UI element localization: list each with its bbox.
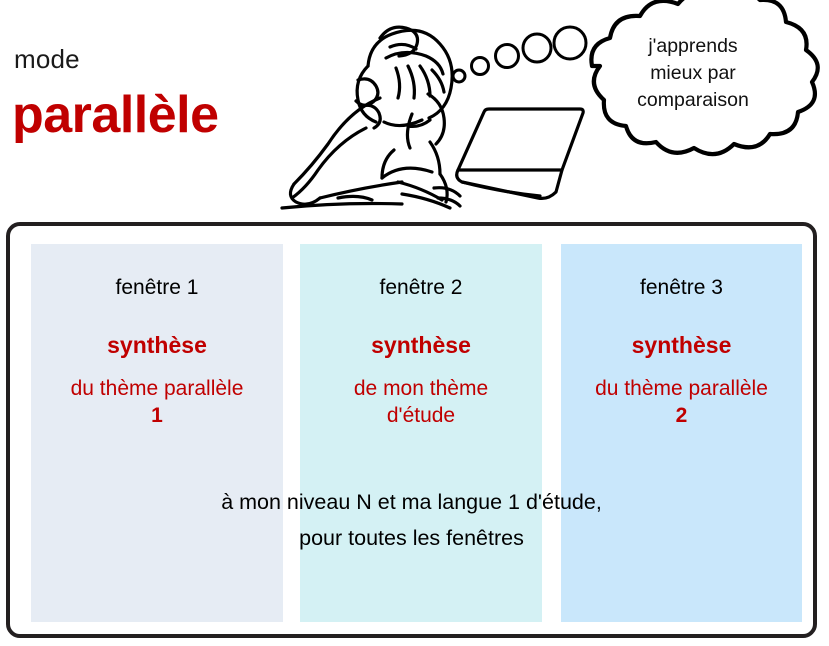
window-column-2-emphasis: d'étude xyxy=(300,402,542,429)
window-column-1-emphasis: 1 xyxy=(31,402,283,429)
window-column-1-keyword: synthèse xyxy=(31,331,283,359)
window-column-2-title: fenêtre 2 xyxy=(300,274,542,301)
thought-line-3: comparaison xyxy=(600,87,786,114)
windows-columns: fenêtre 1 synthèse du thème parallèle 1 … xyxy=(10,226,813,634)
thought-bubble-text: j'apprends mieux par comparaison xyxy=(600,33,786,114)
header-area: mode parallèle xyxy=(0,0,829,222)
window-column-2-subtitle: de mon thème d'étude xyxy=(300,375,542,429)
window-column-3[interactable]: fenêtre 3 synthèse du thème parallèle 2 xyxy=(561,244,802,622)
page-title: parallèle xyxy=(12,84,219,146)
window-column-3-title: fenêtre 3 xyxy=(561,274,802,301)
window-column-2-subtitle-text: de mon thème xyxy=(354,377,488,400)
window-column-3-subtitle-text: du thème parallèle xyxy=(595,377,768,400)
window-column-1-subtitle-text: du thème parallèle xyxy=(71,377,244,400)
mode-label: mode xyxy=(14,44,80,74)
window-column-3-subtitle: du thème parallèle 2 xyxy=(561,375,802,429)
window-column-1-title: fenêtre 1 xyxy=(31,274,283,301)
windows-panel: fenêtre 1 synthèse du thème parallèle 1 … xyxy=(6,222,817,638)
window-column-1-subtitle: du thème parallèle 1 xyxy=(31,375,283,429)
thought-line-1: j'apprends xyxy=(600,33,786,60)
window-column-3-emphasis: 2 xyxy=(561,402,802,429)
window-column-1[interactable]: fenêtre 1 synthèse du thème parallèle 1 xyxy=(31,244,283,622)
window-column-2-keyword: synthèse xyxy=(300,331,542,359)
thought-line-2: mieux par xyxy=(600,60,786,87)
window-column-2[interactable]: fenêtre 2 synthèse de mon thème d'étude xyxy=(300,244,542,622)
window-column-3-keyword: synthèse xyxy=(561,331,802,359)
